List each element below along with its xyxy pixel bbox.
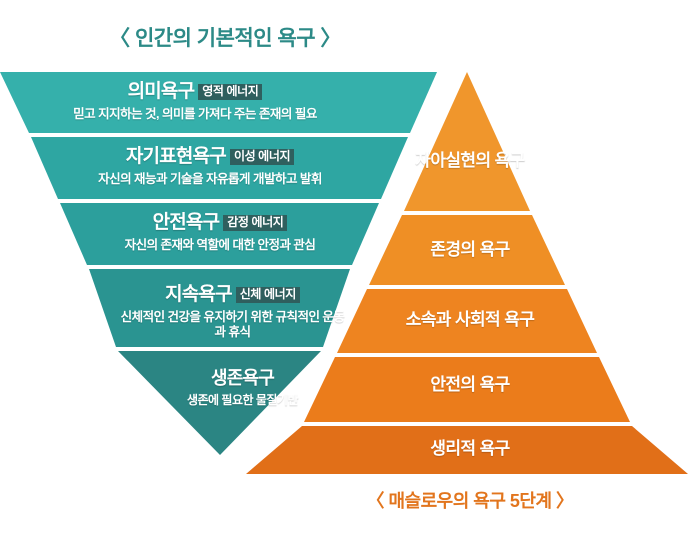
pyramid-level-5-label: 생리적 욕구 bbox=[265, 438, 675, 460]
teal-level-1-badge: 영적 에너지 bbox=[198, 84, 262, 100]
teal-level-3-badge: 감정 에너지 bbox=[223, 215, 287, 231]
teal-level-4-name: 지속욕구 bbox=[165, 284, 232, 305]
pyramid-level-4-label: 안전의 욕구 bbox=[300, 374, 640, 396]
infographic-canvas: 〈 인간의 기본적인 욕구 〉 〈 매슬로우의 욕구 5단계 〉 의미욕구영적 … bbox=[0, 0, 690, 541]
teal-level-5-name: 생존욕구 bbox=[211, 368, 274, 388]
teal-level-3: 안전욕구감정 에너지 자신의 존재와 역할에 대한 안정과 관심 bbox=[95, 211, 345, 253]
pyramid-level-3-label: 소속과 사회적 욕구 bbox=[330, 309, 610, 331]
teal-level-2-badge: 이성 에너지 bbox=[230, 149, 294, 165]
teal-level-2-name: 자기표현욕구 bbox=[126, 146, 226, 167]
teal-level-3-name: 안전욕구 bbox=[153, 212, 220, 233]
teal-level-2-heading: 자기표현욕구이성 에너지 bbox=[70, 145, 350, 169]
teal-level-3-heading: 안전욕구감정 에너지 bbox=[95, 211, 345, 235]
teal-level-3-description: 자신의 존재와 역할에 대한 안정과 관심 bbox=[95, 238, 345, 254]
teal-level-1-heading: 의미욕구영적 에너지 bbox=[40, 80, 350, 104]
left-chart-title: 〈 인간의 기본적인 욕구 〉 bbox=[0, 22, 450, 52]
teal-level-2: 자기표현욕구이성 에너지 자신의 재능과 기술을 자유롭게 개발하고 발휘 bbox=[70, 145, 350, 187]
right-chart-title: 〈 매슬로우의 욕구 5단계 〉 bbox=[250, 487, 690, 513]
teal-level-4-badge: 신체 에너지 bbox=[236, 287, 300, 303]
pyramid-level-2-label: 존경의 욕구 bbox=[360, 239, 580, 261]
teal-level-1-name: 의미욕구 bbox=[128, 81, 195, 102]
teal-level-2-description: 자신의 재능과 기술을 자유롭게 개발하고 발휘 bbox=[70, 172, 350, 188]
teal-level-4: 지속욕구신체 에너지 신체적인 건강을 유지하기 위한 규칙적인 운동과 휴식 bbox=[120, 283, 345, 341]
teal-level-1: 의미욕구영적 에너지 믿고 지지하는 것, 의미를 가져다 주는 존재의 필요 bbox=[40, 80, 350, 122]
teal-level-4-description: 신체적인 건강을 유지하기 위한 규칙적인 운동과 휴식 bbox=[120, 310, 345, 341]
pyramid-level-1-label: 자아실현의 욕구 bbox=[390, 150, 550, 172]
teal-level-1-description: 믿고 지지하는 것, 의미를 가져다 주는 존재의 필요 bbox=[40, 107, 350, 123]
teal-level-4-heading: 지속욕구신체 에너지 bbox=[120, 283, 345, 307]
